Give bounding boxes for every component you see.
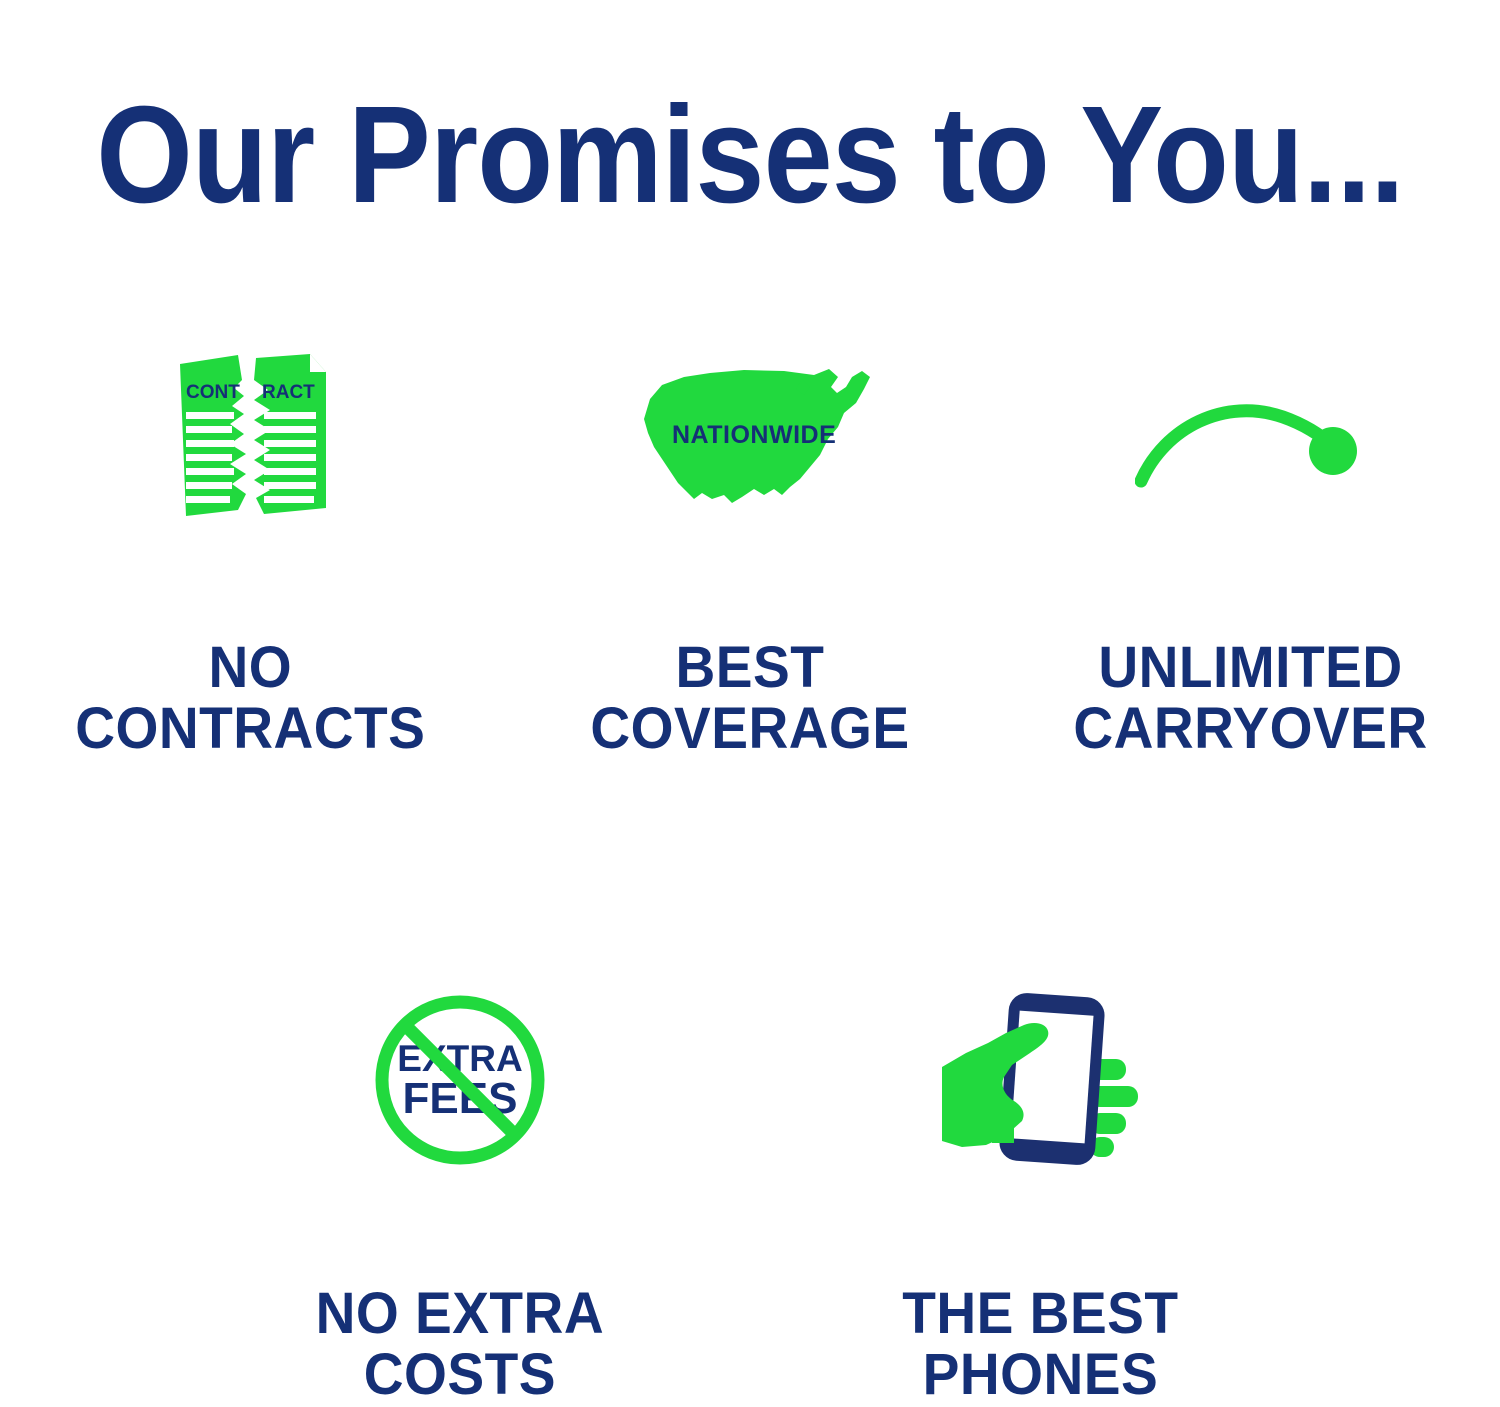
- phone-shape: [998, 992, 1105, 1166]
- torn-contract-icon: CONT RACT: [160, 350, 340, 525]
- no-extra-fees-icon: EXTRA FEES: [371, 991, 549, 1169]
- carryover-arc-icon: [1135, 383, 1365, 493]
- contract-text-left: CONT: [186, 382, 240, 403]
- contract-text-right: RACT: [262, 382, 315, 403]
- promises-page: Our Promises to You...: [0, 0, 1500, 1367]
- promise-the-best-phones: THE BEST PHONES: [750, 965, 1330, 1406]
- usa-map-icon: NATIONWIDE: [624, 363, 876, 513]
- promise-unlimited-carryover: UNLIMITED CARRYOVER: [1000, 330, 1500, 760]
- torn-contract-icon-container: CONT RACT: [160, 330, 340, 545]
- hand-holding-phone-icon-container: [930, 965, 1150, 1195]
- promise-no-contracts: CONT RACT NO CONTRACTS: [0, 330, 500, 760]
- promises-row-top: CONT RACT NO CONTRACTS NATIONWIDE BEST C…: [0, 330, 1500, 760]
- promise-no-extra-costs: EXTRA FEES NO EXTRA COSTS: [170, 965, 750, 1406]
- promise-label-the-best-phones: THE BEST PHONES: [902, 1283, 1178, 1406]
- no-extra-fees-icon-container: EXTRA FEES: [371, 965, 549, 1195]
- nationwide-text: NATIONWIDE: [672, 421, 836, 449]
- promise-label-unlimited-carryover: UNLIMITED CARRYOVER: [1073, 637, 1427, 760]
- promise-label-no-contracts: NO CONTRACTS: [75, 637, 425, 760]
- promise-label-best-coverage: BEST COVERAGE: [590, 637, 909, 760]
- hand-holding-phone-icon: [930, 985, 1150, 1175]
- promise-best-coverage: NATIONWIDE BEST COVERAGE: [500, 330, 1000, 760]
- usa-map-icon-container: NATIONWIDE: [624, 330, 876, 545]
- promises-row-bottom: EXTRA FEES NO EXTRA COSTS: [0, 965, 1500, 1406]
- promise-label-no-extra-costs: NO EXTRA COSTS: [316, 1283, 605, 1406]
- page-title: Our Promises to You...: [75, 86, 1425, 224]
- carryover-arc-icon-container: [1135, 330, 1365, 545]
